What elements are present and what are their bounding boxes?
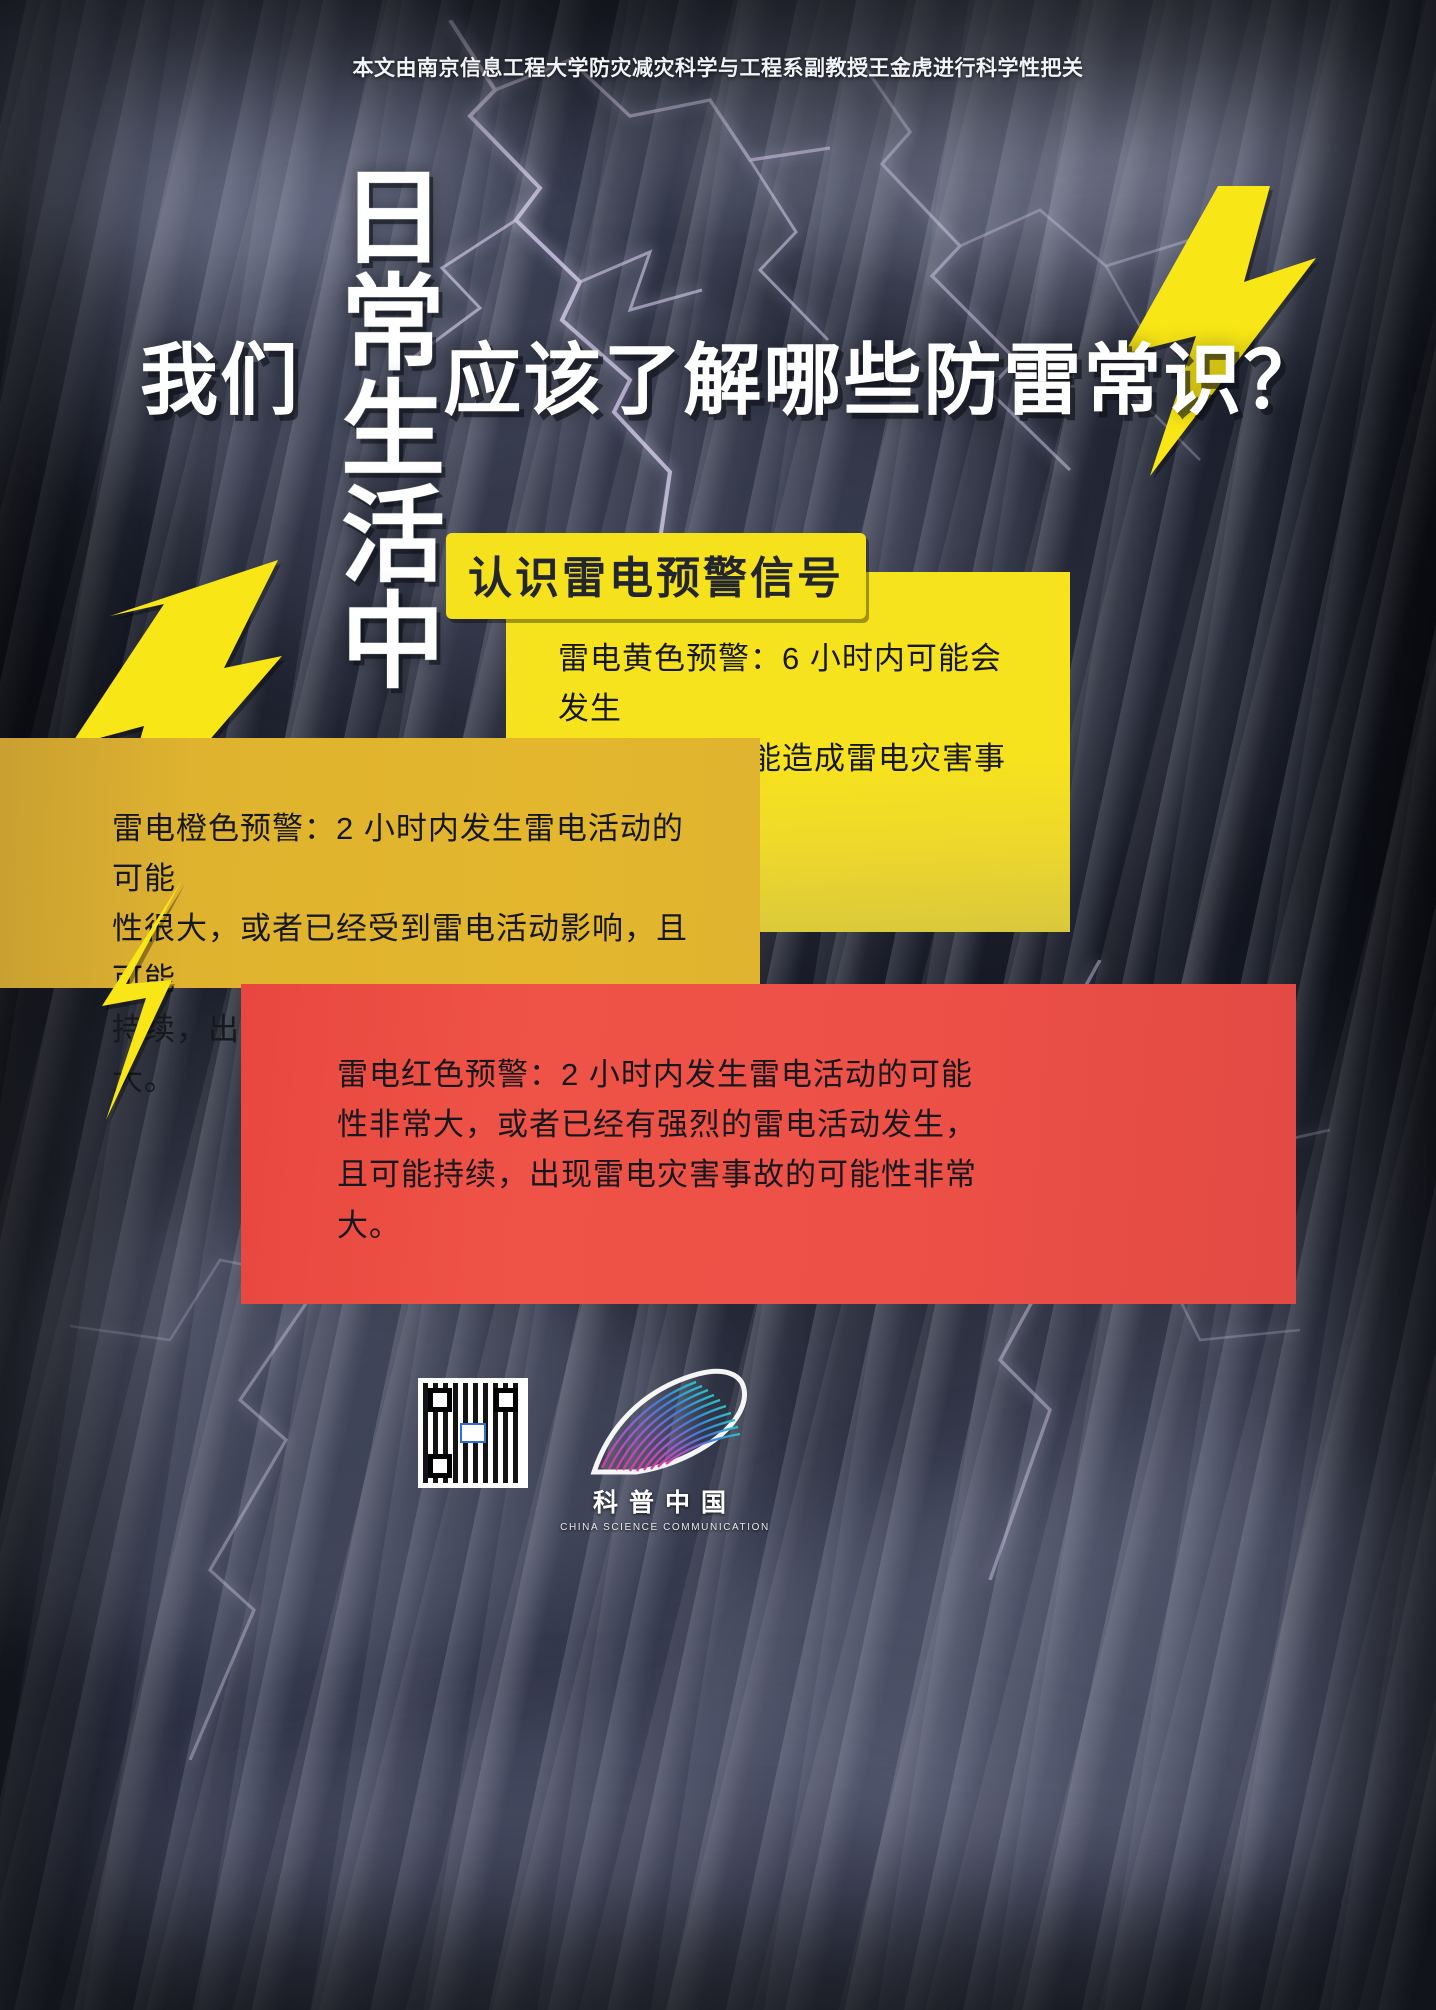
qr-finder-top-right	[494, 1388, 518, 1412]
warning-text-line: 雷电黄色预警：6 小时内可能会发生	[558, 634, 1030, 734]
page-title-left: 我们	[140, 336, 300, 424]
yellow-lightning-icon-right	[1110, 186, 1370, 476]
warning-text-line: 大。	[337, 1201, 1226, 1251]
vtitle-char: 中	[337, 590, 449, 696]
page-title-vertical: 日 常 生 活 中	[337, 166, 449, 696]
warning-text-line: 且可能持续，出现雷电灾害事故的可能性非常	[337, 1150, 1226, 1200]
kepu-china-logo: 科普中国 CHINA SCIENCE COMMUNICATION	[560, 1368, 770, 1518]
kepu-logo-english: CHINA SCIENCE COMMUNICATION	[560, 1522, 770, 1533]
vtitle-char: 日	[337, 166, 449, 272]
kepu-logo-chinese: 科普中国	[560, 1483, 770, 1519]
qr-center-logo	[460, 1423, 486, 1443]
warning-card-red-body: 雷电红色预警：2 小时内发生雷电活动的可能 性非常大，或者已经有强烈的雷电活动发…	[241, 984, 1296, 1251]
warning-text-line: 性非常大，或者已经有强烈的雷电活动发生，	[337, 1100, 1226, 1150]
page-title-right: 应该了解哪些防雷常识？	[443, 336, 1323, 424]
kepu-wing-icon	[578, 1368, 753, 1476]
warning-card-red: 雷电红色预警：2 小时内发生雷电活动的可能 性非常大，或者已经有强烈的雷电活动发…	[241, 984, 1296, 1304]
qr-finder-bottom-left	[428, 1454, 452, 1478]
vtitle-char: 活	[337, 484, 449, 590]
poster-root: 本文由南京信息工程大学防灾减灾科学与工程系副教授王金虎进行科学性把关 日 常 生…	[0, 0, 1436, 2010]
qr-finder-top-left	[428, 1388, 452, 1412]
credit-line: 本文由南京信息工程大学防灾减灾科学与工程系副教授王金虎进行科学性把关	[0, 52, 1436, 82]
yellow-lightning-icon-lower-left	[86, 880, 246, 1120]
warning-text-line: 雷电红色预警：2 小时内发生雷电活动的可能	[337, 1050, 1226, 1100]
section-banner-warning-signals: 认识雷电预警信号	[446, 533, 866, 619]
page-title-horizontal: 我们 应该了解哪些防雷常识？	[140, 340, 1300, 422]
qr-code[interactable]	[418, 1378, 528, 1488]
